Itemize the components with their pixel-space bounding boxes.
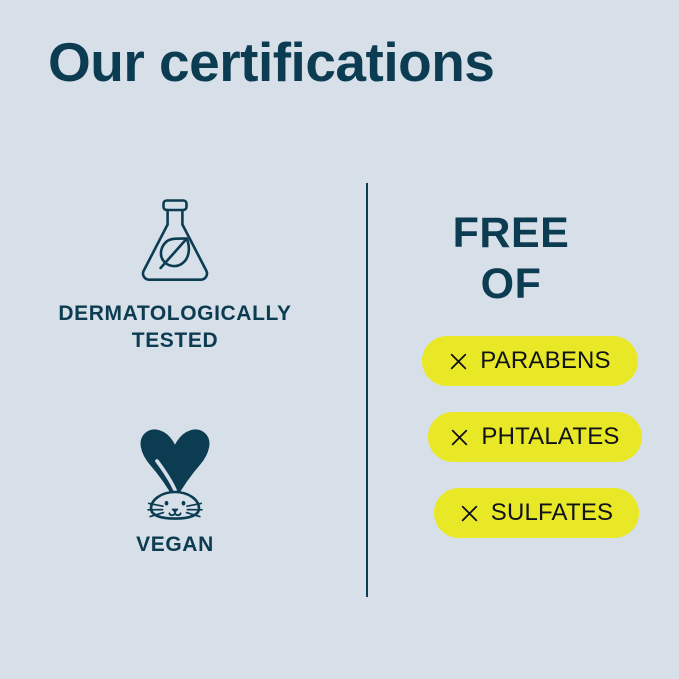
flask-leaf-icon [138,197,212,285]
certification-vegan: VEGAN [0,428,350,559]
free-of-item-label: PHTALATES [481,423,619,451]
free-of-item-sulfates: SULFATES [434,488,639,538]
certifications-column: DERMATOLOGICALLY TESTED [0,183,350,597]
free-of-list: PARABENS PHTALATES SULFATES [382,336,640,564]
free-of-item-parabens: PARABENS [422,336,638,386]
page-title: Our certifications [48,32,494,93]
certification-label-line1: DERMATOLOGICALLY [0,301,350,328]
certification-label-line2: TESTED [0,328,350,355]
free-of-item-phtalates: PHTALATES [428,412,642,462]
vertical-divider [366,183,368,597]
certifications-panel: Our certifications DERMATOLOGICALLY TEST… [0,0,679,679]
rabbit-heart-icon [125,428,225,520]
x-icon [449,352,468,371]
certification-label: VEGAN [0,532,350,559]
free-of-item-label: SULFATES [491,499,614,527]
free-of-heading-line2: OF [382,259,640,310]
free-of-heading: FREE OF [382,208,640,309]
free-of-heading-line1: FREE [382,208,640,259]
certification-label-line1: VEGAN [0,532,350,559]
free-of-column: FREE OF PARABENS PHTALATES SULFATE [382,183,679,597]
x-icon [460,504,479,523]
certification-dermatologically-tested: DERMATOLOGICALLY TESTED [0,197,350,355]
certification-label: DERMATOLOGICALLY TESTED [0,301,350,355]
free-of-item-label: PARABENS [480,347,611,375]
x-icon [450,428,469,447]
